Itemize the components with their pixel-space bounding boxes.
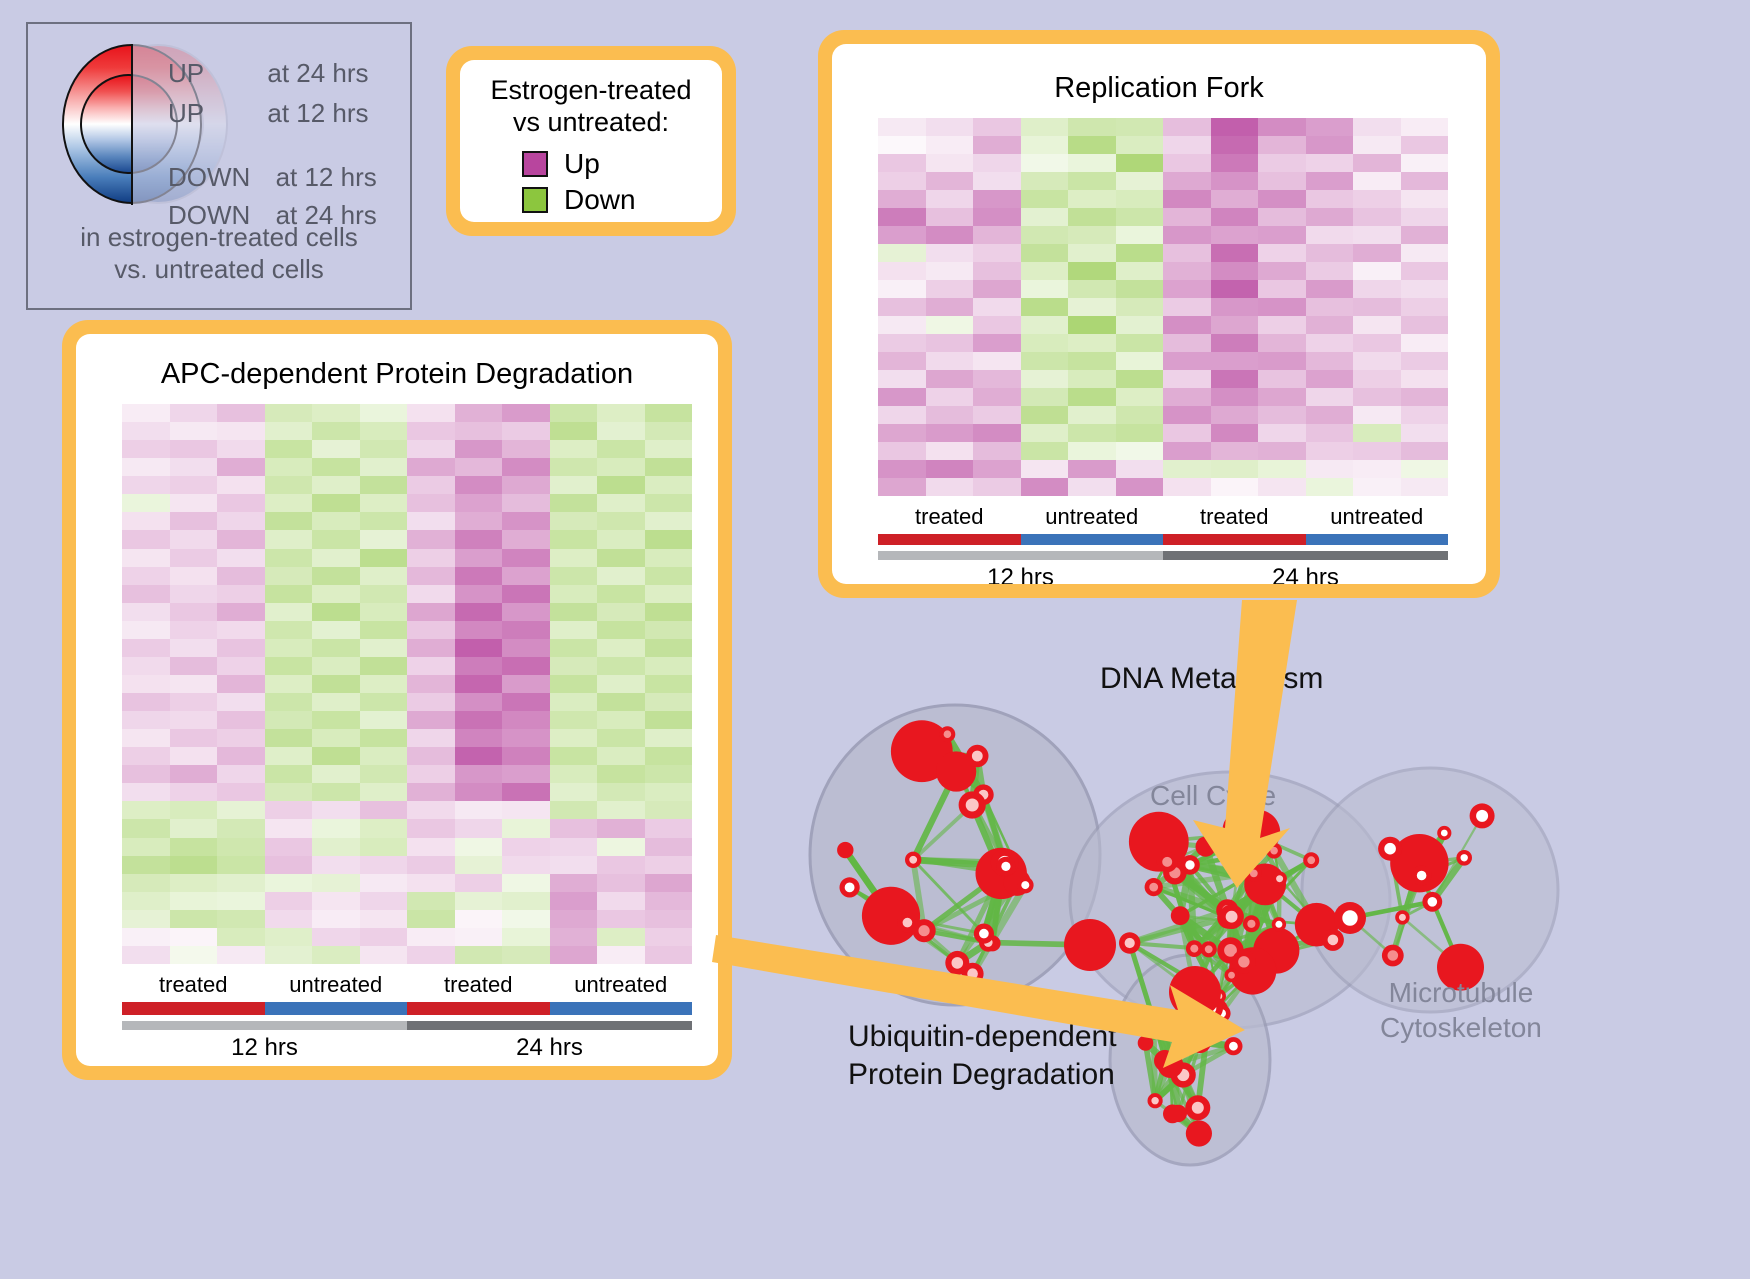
time-label: 24 hrs (1163, 564, 1448, 584)
heatmap-cell (550, 928, 598, 946)
heatmap-cell (1163, 154, 1211, 172)
heatmap-cell (973, 244, 1021, 262)
network-node[interactable] (1189, 1031, 1211, 1053)
heatmap-cell (1021, 316, 1069, 334)
heatmap-cell (1306, 118, 1354, 136)
heatmap-cell (926, 262, 974, 280)
heatmap-cell (550, 765, 598, 783)
heatmap-cell (407, 729, 455, 747)
heatmap-cell (973, 262, 1021, 280)
legend-row-up-12: UP at 12 hrs (168, 98, 369, 129)
heatmap-cell (1353, 118, 1401, 136)
network-node[interactable] (837, 842, 853, 858)
heatmap-cell (645, 783, 693, 801)
heatmap-cell (1353, 424, 1401, 442)
heatmap-cell (360, 657, 408, 675)
heatmap-cell (597, 729, 645, 747)
heatmap-cell (265, 476, 313, 494)
heatmap-cell (550, 729, 598, 747)
heatmap-cell (360, 711, 408, 729)
heatmap-cell (360, 675, 408, 693)
network-node-core (1185, 860, 1194, 869)
heatmap-cell (455, 892, 503, 910)
heatmap-cell (1116, 406, 1164, 424)
heatmap-cell (1211, 406, 1259, 424)
heatmap-cell (122, 422, 170, 440)
heatmap-cell (1258, 406, 1306, 424)
heatmap-cell (1021, 388, 1069, 406)
heatmap-cell (502, 639, 550, 657)
heatmap-cell (360, 856, 408, 874)
heatmap-cell (1211, 172, 1259, 190)
heatmap-cell (1021, 370, 1069, 388)
heatmap-cell (597, 639, 645, 657)
heatmap-cell (1021, 190, 1069, 208)
heatmap-cell (122, 549, 170, 567)
heatmap-cell (265, 567, 313, 585)
heatmap-cell (122, 458, 170, 476)
heatmap-cell (1353, 154, 1401, 172)
network-node-core (1021, 881, 1029, 889)
heatmap-cell (502, 819, 550, 837)
heatmap-cell (878, 334, 926, 352)
heatmap-cell (1353, 244, 1401, 262)
heatmap-cell (360, 639, 408, 657)
heatmap-cell (217, 729, 265, 747)
heatmap-cell (1353, 226, 1401, 244)
heatmap-cell (170, 585, 218, 603)
heatmap-cell (1021, 262, 1069, 280)
heatmap-cell (455, 476, 503, 494)
heatmap-cell (550, 892, 598, 910)
heatmap-cell (1163, 190, 1211, 208)
heatmap-cell (217, 801, 265, 819)
network-node-core (966, 799, 979, 812)
heatmap-cell (926, 316, 974, 334)
network-node-core (967, 968, 978, 979)
heatmap-cell (1401, 316, 1449, 334)
network-node-core (1147, 1013, 1160, 1026)
heatmap-cell (1116, 280, 1164, 298)
heatmap-cell (1163, 262, 1211, 280)
heatmap-cell (407, 856, 455, 874)
cluster-label-dna-metabolism: DNA Metabolism (1100, 662, 1323, 696)
heatmap-cell (170, 783, 218, 801)
heatmap-cell (597, 928, 645, 946)
heatmap-cell (926, 478, 974, 496)
heatmap-cell (170, 693, 218, 711)
heatmap-cell (1258, 190, 1306, 208)
heatmap-cell (1353, 208, 1401, 226)
heatmap-cell (217, 874, 265, 892)
heatmap-cell (973, 334, 1021, 352)
heatmap-cell (1211, 244, 1259, 262)
heatmap-cell (1116, 244, 1164, 262)
heatmap-cell (1353, 334, 1401, 352)
heatmap-cell (1401, 280, 1449, 298)
heatmap-cell (1306, 172, 1354, 190)
heatmap-cell (1068, 424, 1116, 442)
heatmap-cell (878, 136, 926, 154)
network-node[interactable] (1064, 919, 1116, 971)
heatmap-cell (645, 657, 693, 675)
heatmap-cell (1211, 298, 1259, 316)
heatmap-cell (217, 910, 265, 928)
heatmap-cell (645, 910, 693, 928)
heatmap-cell (597, 747, 645, 765)
heatmap-cell (645, 856, 693, 874)
heatmap-cell (122, 910, 170, 928)
heatmap-cell (550, 783, 598, 801)
heatmap-cell (217, 585, 265, 603)
heatmap-cell (455, 783, 503, 801)
heatmap-cell (217, 567, 265, 585)
heatmap-cell (455, 422, 503, 440)
heatmap-cell (645, 603, 693, 621)
heatmap-cell (122, 801, 170, 819)
heatmap-cell (360, 910, 408, 928)
heatmap-cell (455, 946, 503, 964)
heatmap-cell (217, 783, 265, 801)
heatmap-cell (265, 693, 313, 711)
network-node[interactable] (1163, 1105, 1182, 1124)
heatmap-cell (1258, 478, 1306, 496)
heatmap-cell (878, 172, 926, 190)
heatmap-cell (1021, 118, 1069, 136)
legend-time: at 24 hrs (267, 58, 368, 89)
heatmap-cell (1163, 442, 1211, 460)
heatmap-cell (597, 567, 645, 585)
heatmap-cell (597, 422, 645, 440)
heatmap-cell (1021, 226, 1069, 244)
heatmap-cell (645, 458, 693, 476)
heatmap-cell (170, 657, 218, 675)
heatmap-cell (926, 370, 974, 388)
heatmap-cell (1068, 244, 1116, 262)
heatmap-cell (550, 440, 598, 458)
heatmap-cell (455, 440, 503, 458)
heatmap-cell (1116, 424, 1164, 442)
heatmap-cell (1258, 136, 1306, 154)
time-label: 12 hrs (878, 564, 1163, 584)
heatmap-cell (597, 476, 645, 494)
heatmap-cell (597, 404, 645, 422)
heatmap-cell (1068, 442, 1116, 460)
heatmap-cell (973, 190, 1021, 208)
heatmap-cell (645, 476, 693, 494)
heatmap-cell (170, 422, 218, 440)
heatmap-cell (312, 440, 360, 458)
heatmap-cell (597, 910, 645, 928)
network-node-core (1125, 938, 1135, 948)
heatmap-cell (1021, 442, 1069, 460)
heatmap-cell (926, 190, 974, 208)
network-node[interactable] (1158, 1052, 1184, 1078)
heatmap-cell (502, 440, 550, 458)
heatmap-cell (973, 280, 1021, 298)
heatmap-cell (597, 494, 645, 512)
heatmap-cell (407, 639, 455, 657)
heatmap-cell (502, 856, 550, 874)
heatmap-cell (1163, 352, 1211, 370)
network-node-core (944, 730, 952, 738)
heatmap-cell (645, 404, 693, 422)
down-label: Down (564, 184, 636, 216)
treatment-bar-segment (407, 1002, 550, 1015)
heatmap-cell (312, 874, 360, 892)
heatmap-cell (1401, 226, 1449, 244)
network-node-core (1247, 920, 1255, 928)
heatmap-cell (973, 316, 1021, 334)
heatmap-cell (170, 675, 218, 693)
heatmap-cell (265, 404, 313, 422)
heatmap-cell (1211, 154, 1259, 172)
heatmap-cell (597, 512, 645, 530)
heatmap-cell (1401, 136, 1449, 154)
heatmap-cell (170, 946, 218, 964)
treatment-bar-segment (878, 534, 1021, 545)
heatmap-cell (1306, 388, 1354, 406)
heatmap-cell (1068, 226, 1116, 244)
heatmap-cell (645, 440, 693, 458)
heatmap-cell (1306, 352, 1354, 370)
heatmap-cell (170, 801, 218, 819)
heatmap-cell (265, 657, 313, 675)
heatmap-cell (878, 370, 926, 388)
heatmap-cell (265, 928, 313, 946)
network-node-core (1228, 972, 1235, 979)
heatmap-cell (550, 838, 598, 856)
heatmap-cell (502, 910, 550, 928)
heatmap-cell (1116, 478, 1164, 496)
network-node-core (1275, 921, 1282, 928)
heatmap-cell (1401, 460, 1449, 478)
heatmap-cell (502, 458, 550, 476)
heatmap-cell (312, 422, 360, 440)
heatmap-cell (1068, 118, 1116, 136)
heatmap-cell (217, 603, 265, 621)
heatmap-cell (170, 404, 218, 422)
heatmap-cell (1401, 190, 1449, 208)
heatmap-cell (1258, 460, 1306, 478)
heatmap-cell (1163, 424, 1211, 442)
heatmap-cell (312, 801, 360, 819)
heatmap-cell (550, 603, 598, 621)
heatmap-cell (265, 874, 313, 892)
heatmap-cell (312, 404, 360, 422)
heatmap-cell (1401, 352, 1449, 370)
legend-key: UP (168, 58, 204, 89)
legend-item-down: Down (522, 184, 636, 216)
heatmap-cell (170, 494, 218, 512)
network-node[interactable] (1196, 837, 1216, 857)
heatmap-cell (407, 711, 455, 729)
heatmap-cell (878, 226, 926, 244)
heatmap-cell (217, 422, 265, 440)
network-node-core (1417, 871, 1427, 881)
heatmap-cell (926, 226, 974, 244)
heatmap-cell (1306, 460, 1354, 478)
heatmap-cell (170, 856, 218, 874)
network-node-core (1342, 910, 1357, 925)
heatmap-cell (1211, 316, 1259, 334)
heatmap-cell (645, 530, 693, 548)
heatmap-cell (1258, 316, 1306, 334)
heatmap-cell (597, 603, 645, 621)
heatmap-cell (407, 567, 455, 585)
replication-fork-time-labels: 12 hrs 24 hrs (878, 564, 1448, 584)
heatmap-cell (973, 208, 1021, 226)
heatmap-cell (360, 693, 408, 711)
legend-item-up: Up (522, 148, 600, 180)
heatmap-cell (360, 892, 408, 910)
heatmap-cell (217, 530, 265, 548)
heatmap-cell (1068, 334, 1116, 352)
network-node-core (1001, 862, 1010, 871)
heatmap-cell (1211, 280, 1259, 298)
heatmap-cell (122, 494, 170, 512)
legend-key: UP (168, 98, 204, 129)
heatmap-cell (407, 458, 455, 476)
heatmap-cell (312, 657, 360, 675)
heatmap-cell (878, 244, 926, 262)
heatmap-cell (550, 404, 598, 422)
heatmap-cell (645, 567, 693, 585)
heatmap-cell (312, 512, 360, 530)
heatmap-cell (973, 172, 1021, 190)
network-node[interactable] (1223, 809, 1265, 851)
replication-fork-panel: Replication Fork treated untreated treat… (818, 30, 1500, 598)
heatmap-cell (1306, 370, 1354, 388)
heatmap-cell (1401, 172, 1449, 190)
heatmap-cell (122, 765, 170, 783)
heatmap-cell (455, 765, 503, 783)
heatmap-cell (312, 693, 360, 711)
function-network-diagram: DNA Metabolism Cell Cycle Microtubule Cy… (790, 600, 1750, 1279)
heatmap-cell (973, 226, 1021, 244)
heatmap-cell (550, 819, 598, 837)
heatmap-cell (502, 928, 550, 946)
heatmap-cell (170, 567, 218, 585)
heatmap-cell (170, 549, 218, 567)
group-label: untreated (1021, 504, 1164, 530)
heatmap-cell (265, 856, 313, 874)
heatmap-cell (550, 458, 598, 476)
network-node[interactable] (1171, 906, 1190, 925)
heatmap-cell (122, 711, 170, 729)
network-node[interactable] (1169, 966, 1221, 1018)
heatmap-cell (878, 352, 926, 370)
heatmap-cell (312, 729, 360, 747)
heatmap-cell (122, 783, 170, 801)
heatmap-cell (645, 585, 693, 603)
network-node-core (1192, 1102, 1204, 1114)
heatmap-cell (360, 621, 408, 639)
heatmap-cell (1401, 118, 1449, 136)
heatmap-cell (1163, 172, 1211, 190)
heatmap-cell (1353, 262, 1401, 280)
heatmap-cell (170, 747, 218, 765)
heatmap-cell (407, 675, 455, 693)
heatmap-cell (502, 422, 550, 440)
heatmap-cell (407, 747, 455, 765)
heatmap-cell (878, 460, 926, 478)
heatmap-cell (312, 675, 360, 693)
heatmap-cell (878, 388, 926, 406)
heatmap-cell (1021, 280, 1069, 298)
heatmap-cell (170, 874, 218, 892)
heatmap-cell (1401, 370, 1449, 388)
heatmap-cell (217, 458, 265, 476)
heatmap-cell (455, 512, 503, 530)
network-node[interactable] (1138, 1035, 1154, 1051)
heatmap-cell (1211, 352, 1259, 370)
heatmap-cell (1258, 442, 1306, 460)
heatmap-cell (455, 729, 503, 747)
network-node-core (1307, 856, 1315, 864)
heatmap-cell (1068, 316, 1116, 334)
heatmap-cell (1021, 172, 1069, 190)
heatmap-cell (645, 549, 693, 567)
network-node-core (1149, 883, 1158, 892)
heatmap-cell (312, 639, 360, 657)
heatmap-cell (550, 747, 598, 765)
heatmap-cell (122, 874, 170, 892)
heatmap-cell (973, 406, 1021, 424)
heatmap-cell (1116, 316, 1164, 334)
heatmap-cell (217, 675, 265, 693)
heatmap-cell (455, 675, 503, 693)
heatmap-cell (407, 440, 455, 458)
heatmap-cell (1306, 442, 1354, 460)
heatmap-cell (973, 460, 1021, 478)
heatmap-cell (170, 765, 218, 783)
heatmap-cell (645, 801, 693, 819)
heatmap-cell (550, 801, 598, 819)
heatmap-cell (926, 352, 974, 370)
heatmap-cell (1306, 154, 1354, 172)
network-node-core (1250, 870, 1258, 878)
heatmap-cell (312, 476, 360, 494)
heatmap-cell (170, 838, 218, 856)
heatmap-cell (122, 585, 170, 603)
heatmap-cell (455, 639, 503, 657)
heatmap-cell (217, 512, 265, 530)
heatmap-cell (1353, 478, 1401, 496)
heatmap-cell (878, 208, 926, 226)
legend-row-up-24: UP at 24 hrs (168, 58, 369, 89)
heatmap-cell (217, 549, 265, 567)
heatmap-cell (645, 765, 693, 783)
heatmap-cell (360, 747, 408, 765)
heatmap-cell (597, 783, 645, 801)
heatmap-cell (926, 388, 974, 406)
network-node-core (979, 929, 989, 939)
heatmap-cell (550, 946, 598, 964)
heatmap-cell (217, 404, 265, 422)
network-node[interactable] (1186, 1120, 1212, 1146)
treatment-bar-segment (122, 1002, 265, 1015)
heatmap-cell (1163, 280, 1211, 298)
heatmap-cell (502, 693, 550, 711)
network-node-core (1205, 945, 1213, 953)
heatmap-cell (645, 819, 693, 837)
heatmap-cell (1211, 370, 1259, 388)
heatmap-cell (122, 639, 170, 657)
heatmap-cell (1068, 190, 1116, 208)
heatmap-cell (973, 388, 1021, 406)
heatmap-cell (550, 512, 598, 530)
